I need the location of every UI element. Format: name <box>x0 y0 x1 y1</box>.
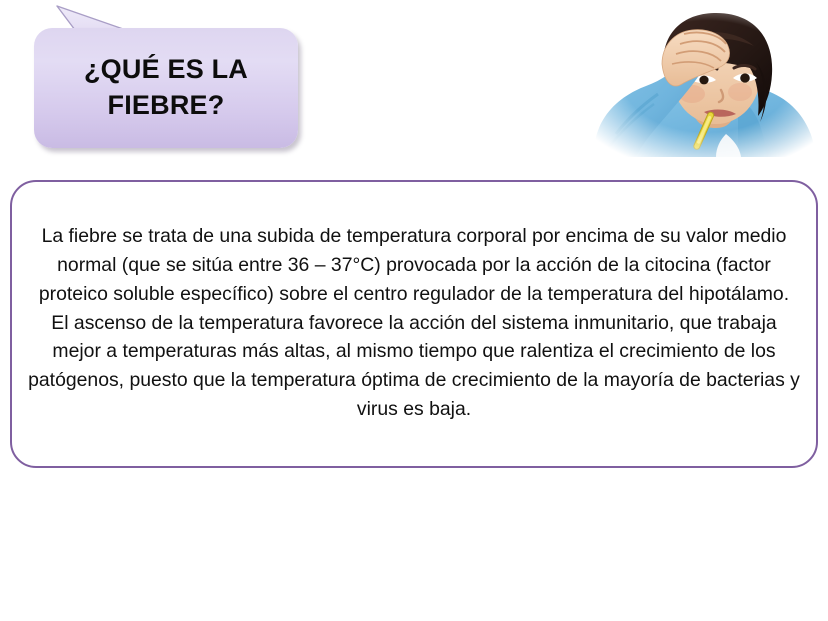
title-speech-bubble: ¿QUÉ ES LA FIEBRE? <box>32 0 300 152</box>
page-title: ¿QUÉ ES LA FIEBRE? <box>74 52 258 124</box>
title-bubble-body: ¿QUÉ ES LA FIEBRE? <box>34 28 298 148</box>
definition-text-box: La fiebre se trata de una subida de temp… <box>10 180 818 468</box>
sick-child-icon <box>588 2 826 157</box>
sick-child-photo <box>588 2 826 157</box>
definition-text: La fiebre se trata de una subida de temp… <box>12 218 816 430</box>
